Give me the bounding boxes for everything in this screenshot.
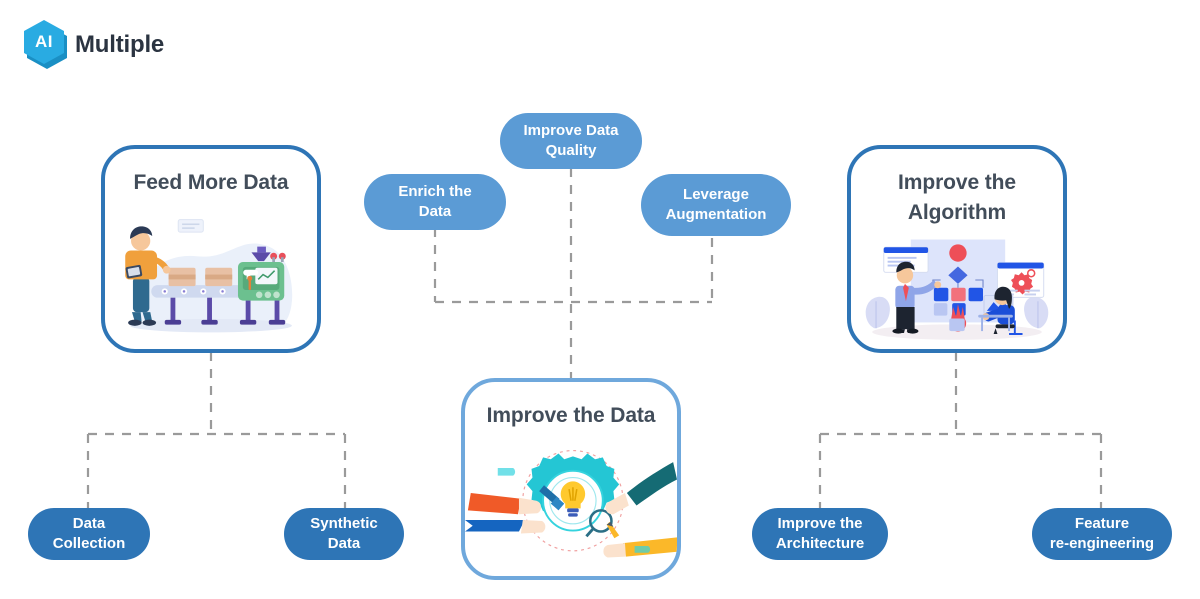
pill-label-line-1: Improve the bbox=[777, 515, 862, 532]
brand-logo[interactable]: AI Multiple bbox=[24, 20, 164, 69]
card-improve-the-data[interactable]: Improve the Data bbox=[461, 378, 681, 580]
pill-label: Improve the Architecture bbox=[776, 514, 864, 554]
pill-improve-the-architecture[interactable]: Improve the Architecture bbox=[752, 508, 888, 560]
card-feed-more-data[interactable]: Feed More Data bbox=[101, 145, 321, 353]
pill-enrich-the-data[interactable]: Enrich the Data bbox=[364, 174, 506, 230]
pill-label: Feature re-engineering bbox=[1050, 514, 1154, 554]
pill-feature-re-engineering[interactable]: Feature re-engineering bbox=[1032, 508, 1172, 560]
pill-label-line-1: Synthetic bbox=[310, 515, 378, 532]
brand-wordmark: Multiple bbox=[75, 31, 164, 59]
pill-label: Leverage Augmentation bbox=[666, 185, 767, 225]
card-title-line-1: Improve the bbox=[898, 171, 1016, 194]
card-improve-the-algorithm[interactable]: Improve the Algorithm bbox=[847, 145, 1067, 353]
pill-label: Synthetic Data bbox=[310, 514, 378, 554]
pill-label-line-2: Collection bbox=[53, 535, 126, 552]
card-title-line-2: Algorithm bbox=[908, 201, 1006, 224]
pill-label-line-2: Data bbox=[419, 203, 452, 220]
pill-leverage-augmentation[interactable]: Leverage Augmentation bbox=[641, 174, 791, 236]
card-title: Feed More Data bbox=[134, 168, 289, 198]
pill-label-line-2: Quality bbox=[546, 142, 597, 159]
card-title: Improve the Data bbox=[487, 401, 656, 431]
pill-label-line-1: Leverage bbox=[683, 186, 749, 203]
pill-label-line-2: re-engineering bbox=[1050, 535, 1154, 552]
pill-label-line-1: Feature bbox=[1075, 515, 1129, 532]
gear-lightbulb-hands-illustration bbox=[465, 431, 677, 576]
card-title: Improve the Algorithm bbox=[898, 168, 1016, 228]
pill-data-collection[interactable]: Data Collection bbox=[28, 508, 150, 560]
pill-label-line-2: Architecture bbox=[776, 535, 864, 552]
flowchart-presentation-illustration bbox=[851, 228, 1063, 349]
factory-conveyor-illustration bbox=[105, 198, 317, 349]
pill-label: Data Collection bbox=[53, 514, 126, 554]
pill-label-line-1: Improve Data bbox=[523, 122, 618, 139]
pill-label-line-1: Enrich the bbox=[398, 183, 471, 200]
diagram-canvas: AI Multiple Feed More Data bbox=[0, 0, 1200, 599]
pill-label: Enrich the Data bbox=[398, 182, 471, 222]
pill-label-line-2: Augmentation bbox=[666, 206, 767, 223]
pill-synthetic-data[interactable]: Synthetic Data bbox=[284, 508, 404, 560]
pill-label: Improve Data Quality bbox=[523, 121, 618, 161]
pill-label-line-1: Data bbox=[73, 515, 106, 532]
pill-label-line-2: Data bbox=[328, 535, 361, 552]
pill-improve-data-quality[interactable]: Improve Data Quality bbox=[500, 113, 642, 169]
brand-mark-text: AI bbox=[35, 32, 53, 52]
